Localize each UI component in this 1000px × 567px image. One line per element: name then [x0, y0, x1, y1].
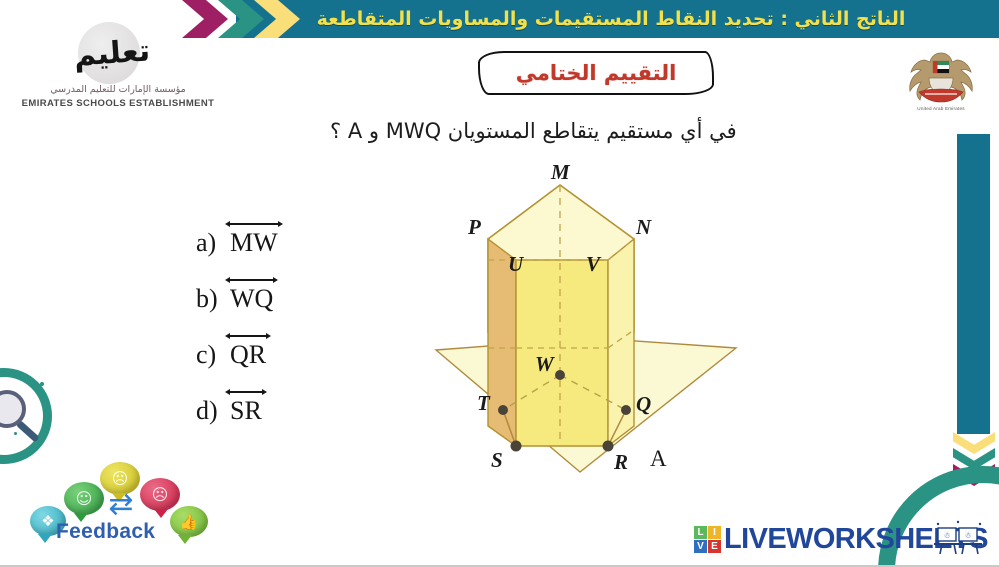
- option-a-value: MW: [230, 228, 278, 257]
- prism-plane-figure: [388, 160, 758, 500]
- label-t: T: [477, 391, 490, 416]
- bubble-tail: [178, 535, 192, 544]
- option-c[interactable]: c) QR: [196, 338, 346, 394]
- label-plane-a: A: [650, 446, 667, 472]
- label-p: P: [468, 215, 481, 240]
- segment-overbar-icon: [229, 223, 279, 225]
- label-n: N: [636, 215, 651, 240]
- point-t: [498, 405, 508, 415]
- assessment-title: التقييم الختامي: [516, 61, 677, 85]
- option-c-value: QR: [230, 340, 266, 369]
- bubble-tail: [38, 534, 52, 543]
- option-b[interactable]: b) WQ: [196, 282, 346, 338]
- decor-dot: [44, 404, 48, 408]
- live-letter-e: E: [708, 540, 721, 553]
- label-r: R: [614, 450, 628, 475]
- slide-page: الناتج الثاني : تحديد النقاط المستقيمات …: [0, 0, 1000, 567]
- option-d-segment: SR: [230, 394, 262, 428]
- point-q: [621, 405, 631, 415]
- bubble-thumbsup-face: 👍: [170, 506, 208, 537]
- point-w: [555, 370, 565, 380]
- decor-dot: [14, 432, 17, 435]
- header-title: الناتج الثاني : تحديد النقاط المستقيمات …: [236, 0, 986, 38]
- svg-text:☃: ☃: [964, 530, 971, 540]
- option-a-letter: a): [196, 226, 230, 260]
- decor-dot: [40, 382, 44, 386]
- ese-calligraphy: تعليم: [71, 22, 153, 85]
- ese-english-name: EMIRATES SCHOOLS ESTABLISHMENT: [18, 98, 218, 109]
- prism-front-face: [516, 260, 608, 446]
- bubble-tail: [154, 509, 168, 518]
- answer-options: a) MW b) WQ c) QR d) SR: [196, 226, 346, 450]
- desk-icon: ☃ ☃: [932, 520, 986, 556]
- live-badge: L I V E: [694, 526, 721, 553]
- rail-chevron-yellow-icon: [953, 432, 995, 454]
- option-a-segment: MW: [230, 226, 278, 260]
- label-w: W: [535, 352, 554, 377]
- label-u: U: [508, 252, 523, 277]
- label-s: S: [491, 448, 503, 473]
- liveworksheets-logo[interactable]: L I V E LIVEWORKSHEETS ☃ ☃: [694, 518, 990, 560]
- live-letter-v: V: [694, 540, 707, 553]
- option-a[interactable]: a) MW: [196, 226, 346, 282]
- option-c-letter: c): [196, 338, 230, 372]
- point-s: [511, 441, 522, 452]
- option-d-letter: d): [196, 394, 230, 428]
- live-badge-row-bottom: V E: [694, 540, 721, 553]
- option-c-segment: QR: [230, 338, 266, 372]
- ese-arabic-name: مؤسسة الإمارات للتعليم المدرسي: [18, 84, 218, 95]
- live-letter-l: L: [694, 526, 707, 539]
- segment-overbar-icon: [229, 279, 274, 281]
- recycle-arrows-icon: ⇄: [98, 490, 144, 520]
- option-d[interactable]: d) SR: [196, 394, 346, 450]
- uae-emblem: United Arab Emirates: [905, 48, 977, 118]
- falcon-icon: [905, 48, 977, 106]
- geometry-diagram: M P N U V W T Q S R A: [388, 160, 758, 500]
- feedback-graphic[interactable]: ❖ ☺ ☹ ☹ 👍 ⇄ Feedback: [18, 462, 208, 552]
- segment-overbar-icon: [229, 391, 263, 393]
- point-r: [603, 441, 614, 452]
- prism-right-face: [608, 239, 634, 446]
- option-b-segment: WQ: [230, 282, 273, 316]
- live-letter-i: I: [708, 526, 721, 539]
- label-v: V: [586, 252, 600, 277]
- segment-overbar-icon: [229, 335, 267, 337]
- right-rail: [957, 134, 990, 434]
- svg-text:☃: ☃: [943, 530, 950, 540]
- label-m: M: [551, 160, 570, 185]
- live-badge-row-top: L I: [694, 526, 721, 539]
- ese-logo: تعليم مؤسسة الإمارات للتعليم المدرسي EMI…: [18, 22, 218, 117]
- uae-emblem-caption: United Arab Emirates: [905, 106, 977, 111]
- assessment-title-box: التقييم الختامي: [478, 51, 714, 95]
- question-full: في أي مستقيم يتقاطع المستويان MWQ و A ؟: [330, 119, 737, 143]
- option-b-value: WQ: [230, 284, 273, 313]
- question-text: في أي مستقيم يتقاطع المستويان MWQ و A ؟: [330, 110, 890, 152]
- label-q: Q: [636, 392, 651, 417]
- option-b-letter: b): [196, 282, 230, 316]
- option-d-value: SR: [230, 396, 262, 425]
- feedback-label: Feedback: [56, 520, 155, 544]
- bubble-thumbsup-icon: 👍: [170, 506, 208, 537]
